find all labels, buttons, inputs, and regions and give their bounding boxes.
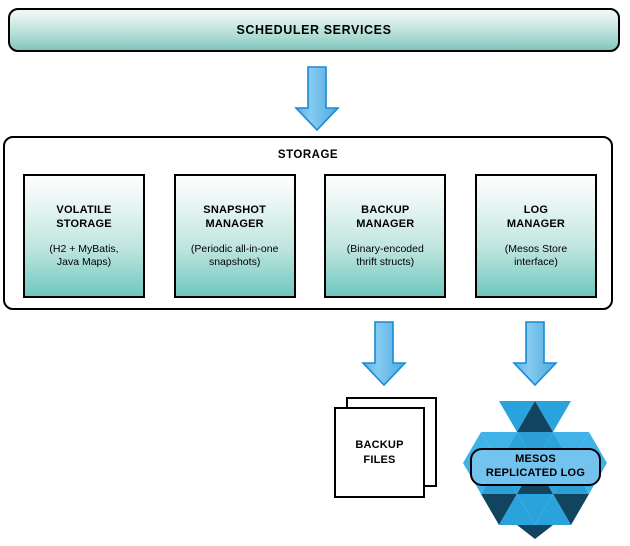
- arrow-log-manager-to-mesos-replicated-log: [512, 321, 558, 387]
- component-description: (Periodic all-in-one snapshots): [191, 243, 279, 269]
- scheduler-services-panel: SCHEDULER SERVICES: [8, 8, 620, 52]
- backup-files-node: BACKUP FILES: [334, 397, 438, 501]
- component-title: SNAPSHOT MANAGER: [203, 203, 266, 231]
- component-title-line2: STORAGE: [56, 218, 112, 230]
- backup-file-page-front: BACKUP FILES: [334, 407, 425, 498]
- diagram-canvas: SCHEDULER SERVICES STORAGE VOLATILE STOR…: [0, 0, 630, 546]
- component-title: LOG MANAGER: [507, 203, 565, 231]
- component-title: VOLATILE STORAGE: [56, 203, 112, 231]
- component-desc-line2: interface): [514, 256, 558, 268]
- component-desc-line2: thrift structs): [356, 256, 414, 268]
- component-description: (Binary-encoded thrift structs): [347, 243, 424, 269]
- component-title-line1: BACKUP: [361, 204, 409, 216]
- mesos-replicated-log-label: MESOS REPLICATED LOG: [470, 448, 601, 486]
- arrow-backup-manager-to-backup-files: [361, 321, 407, 387]
- backup-files-label-line2: FILES: [363, 454, 395, 466]
- backup-files-label-line1: BACKUP: [355, 439, 403, 451]
- component-desc-line2: Java Maps): [57, 256, 111, 268]
- component-description: (H2 + MyBatis, Java Maps): [49, 243, 118, 269]
- mesos-label-line1: MESOS: [515, 453, 556, 467]
- storage-component-volatile-storage[interactable]: VOLATILE STORAGE (H2 + MyBatis, Java Map…: [23, 174, 145, 298]
- component-desc-line1: (H2 + MyBatis,: [49, 243, 118, 255]
- storage-components-row: VOLATILE STORAGE (H2 + MyBatis, Java Map…: [23, 174, 597, 298]
- storage-container: STORAGE VOLATILE STORAGE (H2 + MyBatis, …: [3, 136, 613, 310]
- storage-component-backup-manager[interactable]: BACKUP MANAGER (Binary-encoded thrift st…: [324, 174, 446, 298]
- backup-files-label: BACKUP FILES: [355, 438, 403, 467]
- storage-component-snapshot-manager[interactable]: SNAPSHOT MANAGER (Periodic all-in-one sn…: [174, 174, 296, 298]
- mesos-replicated-log-node: MESOS REPLICATED LOG: [461, 393, 609, 541]
- mesos-label-line2: REPLICATED LOG: [486, 467, 585, 481]
- component-title: BACKUP MANAGER: [356, 203, 414, 231]
- storage-component-log-manager[interactable]: LOG MANAGER (Mesos Store interface): [475, 174, 597, 298]
- component-title-line1: VOLATILE: [56, 204, 111, 216]
- component-description: (Mesos Store interface): [505, 243, 567, 269]
- component-desc-line2: snapshots): [209, 256, 260, 268]
- component-desc-line1: (Periodic all-in-one: [191, 243, 279, 255]
- scheduler-services-label: SCHEDULER SERVICES: [236, 23, 391, 37]
- component-title-line1: LOG: [524, 204, 548, 216]
- component-desc-line1: (Mesos Store: [505, 243, 567, 255]
- component-title-line2: MANAGER: [507, 218, 565, 230]
- component-title-line2: MANAGER: [206, 218, 264, 230]
- storage-title: STORAGE: [5, 149, 611, 161]
- component-title-line1: SNAPSHOT: [203, 204, 266, 216]
- component-title-line2: MANAGER: [356, 218, 414, 230]
- arrow-scheduler-to-storage: [294, 66, 340, 132]
- component-desc-line1: (Binary-encoded: [347, 243, 424, 255]
